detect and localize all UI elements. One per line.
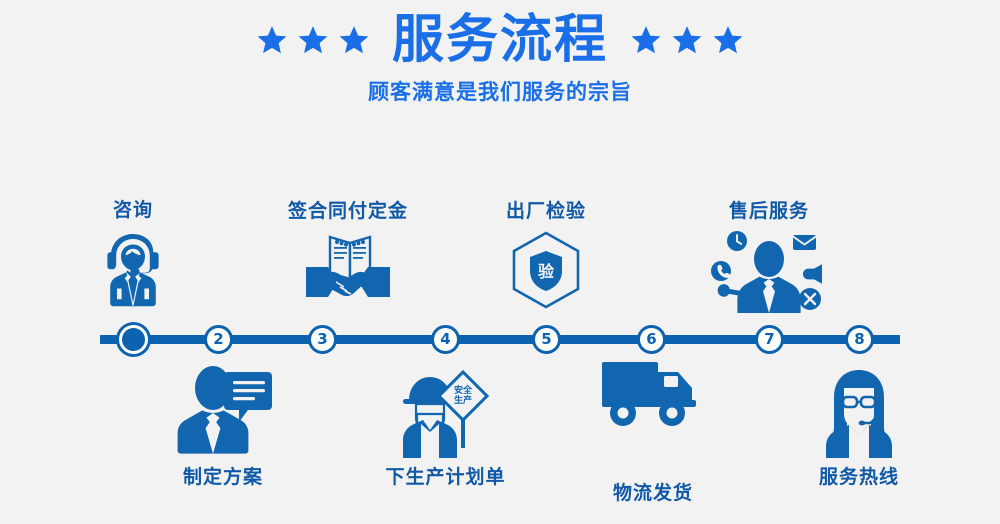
star-icon	[338, 24, 370, 56]
timeline-node-3[interactable]: 3	[308, 325, 337, 354]
headset-agent-icon	[83, 226, 183, 312]
star-icon	[297, 24, 329, 56]
star-icon	[712, 24, 744, 56]
timeline-node-6[interactable]: 6	[637, 325, 666, 354]
after-sales-support-icon	[704, 227, 834, 315]
worker-safety-sign-icon: 安全 生产	[358, 366, 533, 458]
timeline-node-5[interactable]: 5	[532, 325, 561, 354]
right-star-group	[630, 24, 744, 56]
hexagon-shield-inspect-icon: 验	[481, 227, 611, 313]
step-label: 咨询	[83, 195, 183, 222]
star-icon	[256, 24, 288, 56]
step-label: 服务热线	[794, 462, 924, 489]
star-icon	[671, 24, 703, 56]
step-label: 出厂检验	[481, 196, 611, 223]
step-5-factory-inspection[interactable]: 出厂检验 验	[481, 196, 611, 313]
step-label: 下生产计划单	[358, 462, 533, 489]
title-row: 服务流程	[0, 6, 1000, 74]
step-7-after-sales[interactable]: 售后服务	[704, 196, 834, 315]
inspect-badge-text: 验	[538, 262, 555, 281]
timeline-node-4[interactable]: 4	[431, 325, 460, 354]
page-subtitle: 顾客满意是我们服务的宗旨	[0, 76, 1000, 106]
step-label: 签合同付定金	[258, 196, 438, 223]
step-4-production-order[interactable]: 安全 生产 下生产计划单	[358, 366, 533, 489]
step-label: 物流发货	[588, 478, 718, 505]
star-icon	[630, 24, 662, 56]
timeline-node-2[interactable]: 2	[204, 325, 233, 354]
step-3-contract-deposit[interactable]: 签合同付定金	[258, 196, 438, 307]
banner-header: 服务流程 顾客满意是我们服务的宗旨	[0, 0, 1000, 120]
page-title: 服务流程	[392, 14, 608, 66]
step-8-service-hotline[interactable]: 服务热线	[794, 366, 924, 489]
timeline-node-7[interactable]: 7	[755, 325, 784, 354]
step-label: 制定方案	[148, 462, 298, 489]
step-2-plan-making[interactable]: 制定方案	[148, 366, 298, 489]
step-1-consultation[interactable]: 咨询	[83, 195, 183, 312]
safety-sign-line1: 安全	[453, 384, 472, 396]
timeline-node-1[interactable]	[119, 325, 148, 354]
service-process-banner: 服务流程 顾客满意是我们服务的宗旨 咨询	[0, 0, 1000, 524]
step-label: 售后服务	[704, 196, 834, 223]
person-speech-bubble-icon	[148, 366, 298, 458]
handshake-contract-icon	[258, 227, 438, 307]
timeline-node-8[interactable]: 8	[845, 325, 874, 354]
step-6-logistics-shipping[interactable]: 物流发货	[588, 330, 718, 505]
left-star-group	[256, 24, 370, 56]
female-operator-icon	[794, 366, 924, 458]
safety-sign-line2: 生产	[453, 394, 471, 406]
